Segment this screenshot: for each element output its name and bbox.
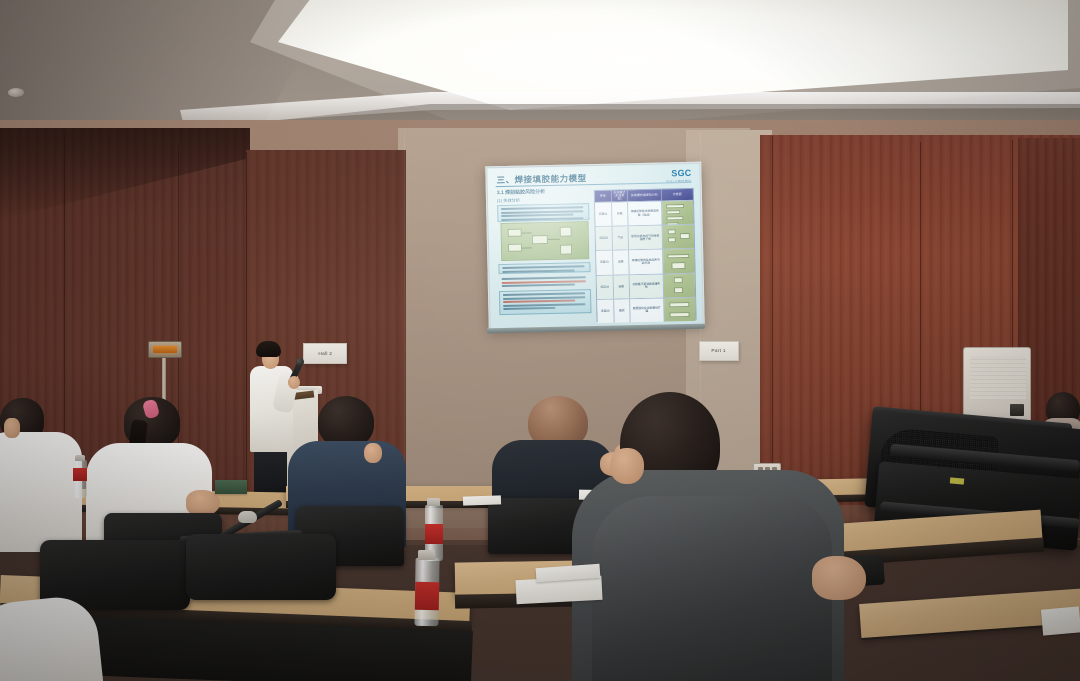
bottle-label: [415, 582, 439, 610]
table-header-cell: 失效模式 (失效类型): [611, 190, 628, 201]
slide-table: 序号 失效模式 (失效类型) 失效模式描述及分析 示意图 项目01 开胶 焊接后…: [594, 188, 697, 322]
table-cell-desc: 涂胶量不足导致连接失效: [630, 274, 664, 298]
table-cell-no: 项目02: [596, 227, 613, 251]
diagram-node: [508, 229, 522, 237]
table-cell-no: 项目01: [595, 203, 612, 227]
projection-screen: 三、焊接填胶能力模型 SGC FULL CONTROL 3.1 焊前贴胶风险分析…: [485, 162, 705, 331]
diagram-node: [532, 235, 548, 244]
wall-sign-part: Part 1: [699, 341, 739, 361]
table-cell-no: 项目05: [597, 299, 614, 323]
table-row: 项目03 溢胶 焊接后胶体溢出边界污染外观: [596, 248, 695, 274]
presenter-hair: [256, 341, 281, 357]
table-cell-no: 项目04: [597, 275, 614, 299]
diagram-node: [560, 227, 572, 237]
microphone-head: [296, 358, 304, 366]
speaker-sticker: [950, 477, 964, 484]
table-row: 项目02 气泡 胶层内部存在气泡导致强度下降: [596, 224, 695, 250]
wall-sign-hall: Hall 2: [303, 343, 347, 364]
diagram-node: [508, 244, 522, 252]
ac-grille: [970, 356, 1026, 400]
paper-sheet: [1041, 606, 1080, 635]
wall-sign-label: Hall 2: [318, 351, 332, 357]
attendee-hand: [364, 443, 382, 463]
slide-diagram: [500, 221, 589, 261]
wall-sign-label: Part 1: [712, 348, 726, 354]
slide-text-block: [497, 203, 589, 222]
bottle-label: [73, 468, 87, 481]
foreground-attendee-forearm: [812, 556, 866, 600]
slide-logo-main: SGC: [666, 168, 691, 179]
diagram-node: [560, 245, 572, 255]
table-cell-mode: 溢胶: [613, 251, 630, 275]
table-cell-illustration: [662, 201, 694, 225]
table-cell-no: 项目03: [596, 251, 613, 275]
table-cell-illustration: [662, 225, 694, 249]
table-cell-mode: 气泡: [612, 226, 629, 250]
shirt-shading: [592, 496, 832, 681]
table-cell-desc: 胶层内部存在气泡导致强度下降: [629, 226, 663, 250]
table-header-cell: 失效模式描述及分析: [628, 190, 662, 202]
table-cell-illustration: [663, 249, 695, 273]
slide-text-block: [498, 262, 590, 274]
conference-room-photo: Hall 2 Part 1 三、焊接填胶能力模型 SGC FULL CONTRO…: [0, 0, 1080, 681]
table-cell-mode: 裂纹: [614, 299, 631, 323]
slide-text-block: [499, 274, 591, 289]
computer-mouse: [238, 511, 257, 523]
table-cell-desc: 焊接后胶体溢出边界污染外观: [629, 250, 663, 274]
presenter-hand: [288, 376, 300, 389]
table-cell-illustration: [664, 298, 696, 322]
bottle-cap: [427, 498, 440, 506]
diagram-connector: [548, 239, 560, 240]
table-row: 项目01 开胶 焊接后胶层出现脱落现象（局部）: [595, 200, 694, 226]
slide-text-block: [499, 289, 592, 315]
table-header-cell: 序号: [595, 191, 612, 202]
bottle-cap: [418, 550, 435, 560]
slide-section-heading: 3.1 焊前贴胶风险分析: [497, 188, 545, 196]
paper-sheet: [463, 495, 501, 505]
table-cell-mode: 缺胶: [613, 275, 630, 299]
table-row: 项目05 裂纹 胶层固化后出现裂纹扩展: [597, 297, 696, 323]
table-row: 项目04 缺胶 涂胶量不足导致连接失效: [597, 272, 696, 298]
bottle-label: [425, 524, 443, 544]
table-cell-mode: 开胶: [612, 202, 629, 226]
emergency-light-icon: [148, 341, 182, 358]
smoke-detector-icon: [8, 88, 24, 97]
slide-surface: 三、焊接填胶能力模型 SGC FULL CONTROL 3.1 焊前贴胶风险分析…: [487, 164, 702, 329]
bottle-cap: [75, 455, 85, 461]
table-cell-desc: 胶层固化后出现裂纹扩展: [630, 298, 664, 322]
table-header-cell: 示意图: [661, 189, 693, 201]
emergency-light-lens: [153, 346, 177, 353]
chair: [186, 534, 336, 600]
ac-control-panel: [1010, 404, 1024, 416]
notebook: [215, 480, 247, 494]
table-cell-desc: 焊接后胶层出现脱落现象（局部）: [628, 202, 662, 226]
table-header-row: 序号 失效模式 (失效类型) 失效模式描述及分析 示意图: [595, 189, 693, 202]
diagram-connector: [522, 232, 532, 233]
foreground-attendee-hand: [610, 448, 644, 484]
wall-seam: [246, 152, 247, 532]
attendee-face: [4, 418, 20, 438]
table-cell-illustration: [663, 273, 695, 297]
diagram-connector: [522, 247, 532, 248]
attendee-torso: [0, 432, 82, 552]
slide-subsection-heading: (1) 失效分析: [497, 198, 520, 205]
